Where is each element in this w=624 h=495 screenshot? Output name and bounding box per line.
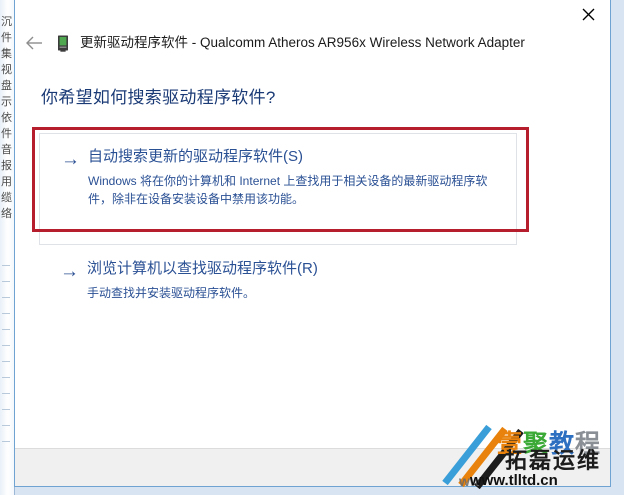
option-browse-computer[interactable]: → 浏览计算机以查找驱动程序软件(R) 手动查找并安装驱动程序软件。 — [39, 258, 517, 310]
option-auto-search-title: 自动搜索更新的驱动程序软件(S) — [88, 148, 303, 166]
arrow-right-icon: → — [61, 150, 80, 169]
option-auto-search-description: Windows 将在你的计算机和 Internet 上查找用于相关设备的最新驱动… — [88, 172, 508, 208]
background-window-sliver[interactable]: 沉件集视盘示依件音报用缆络 — [0, 0, 15, 495]
dialog-footer-bar — [15, 448, 610, 486]
close-icon[interactable] — [566, 0, 610, 28]
dialog-title: 更新驱动程序软件 - Qualcomm Atheros AR956x Wirel… — [80, 33, 525, 53]
device-icon — [53, 33, 73, 53]
option-browse-computer-description: 手动查找并安装驱动程序软件。 — [87, 284, 507, 302]
arrow-right-icon: → — [60, 262, 79, 281]
dialog-titlebar: 更新驱动程序软件 - Qualcomm Atheros AR956x Wirel… — [15, 0, 610, 62]
page-title: 你希望如何搜索驱动程序软件? — [41, 83, 276, 108]
background-window-list-rules — [2, 265, 10, 457]
update-driver-dialog: 更新驱动程序软件 - Qualcomm Atheros AR956x Wirel… — [14, 0, 611, 487]
option-browse-computer-title: 浏览计算机以查找驱动程序软件(R) — [87, 260, 318, 278]
background-window-clipped-text: 沉件集视盘示依件音报用缆络 — [1, 14, 12, 254]
option-auto-search[interactable]: → 自动搜索更新的驱动程序软件(S) Windows 将在你的计算机和 Inte… — [39, 133, 517, 245]
back-arrow-icon[interactable] — [15, 30, 53, 56]
dialog-nav-row: 更新驱动程序软件 - Qualcomm Atheros AR956x Wirel… — [15, 30, 525, 56]
